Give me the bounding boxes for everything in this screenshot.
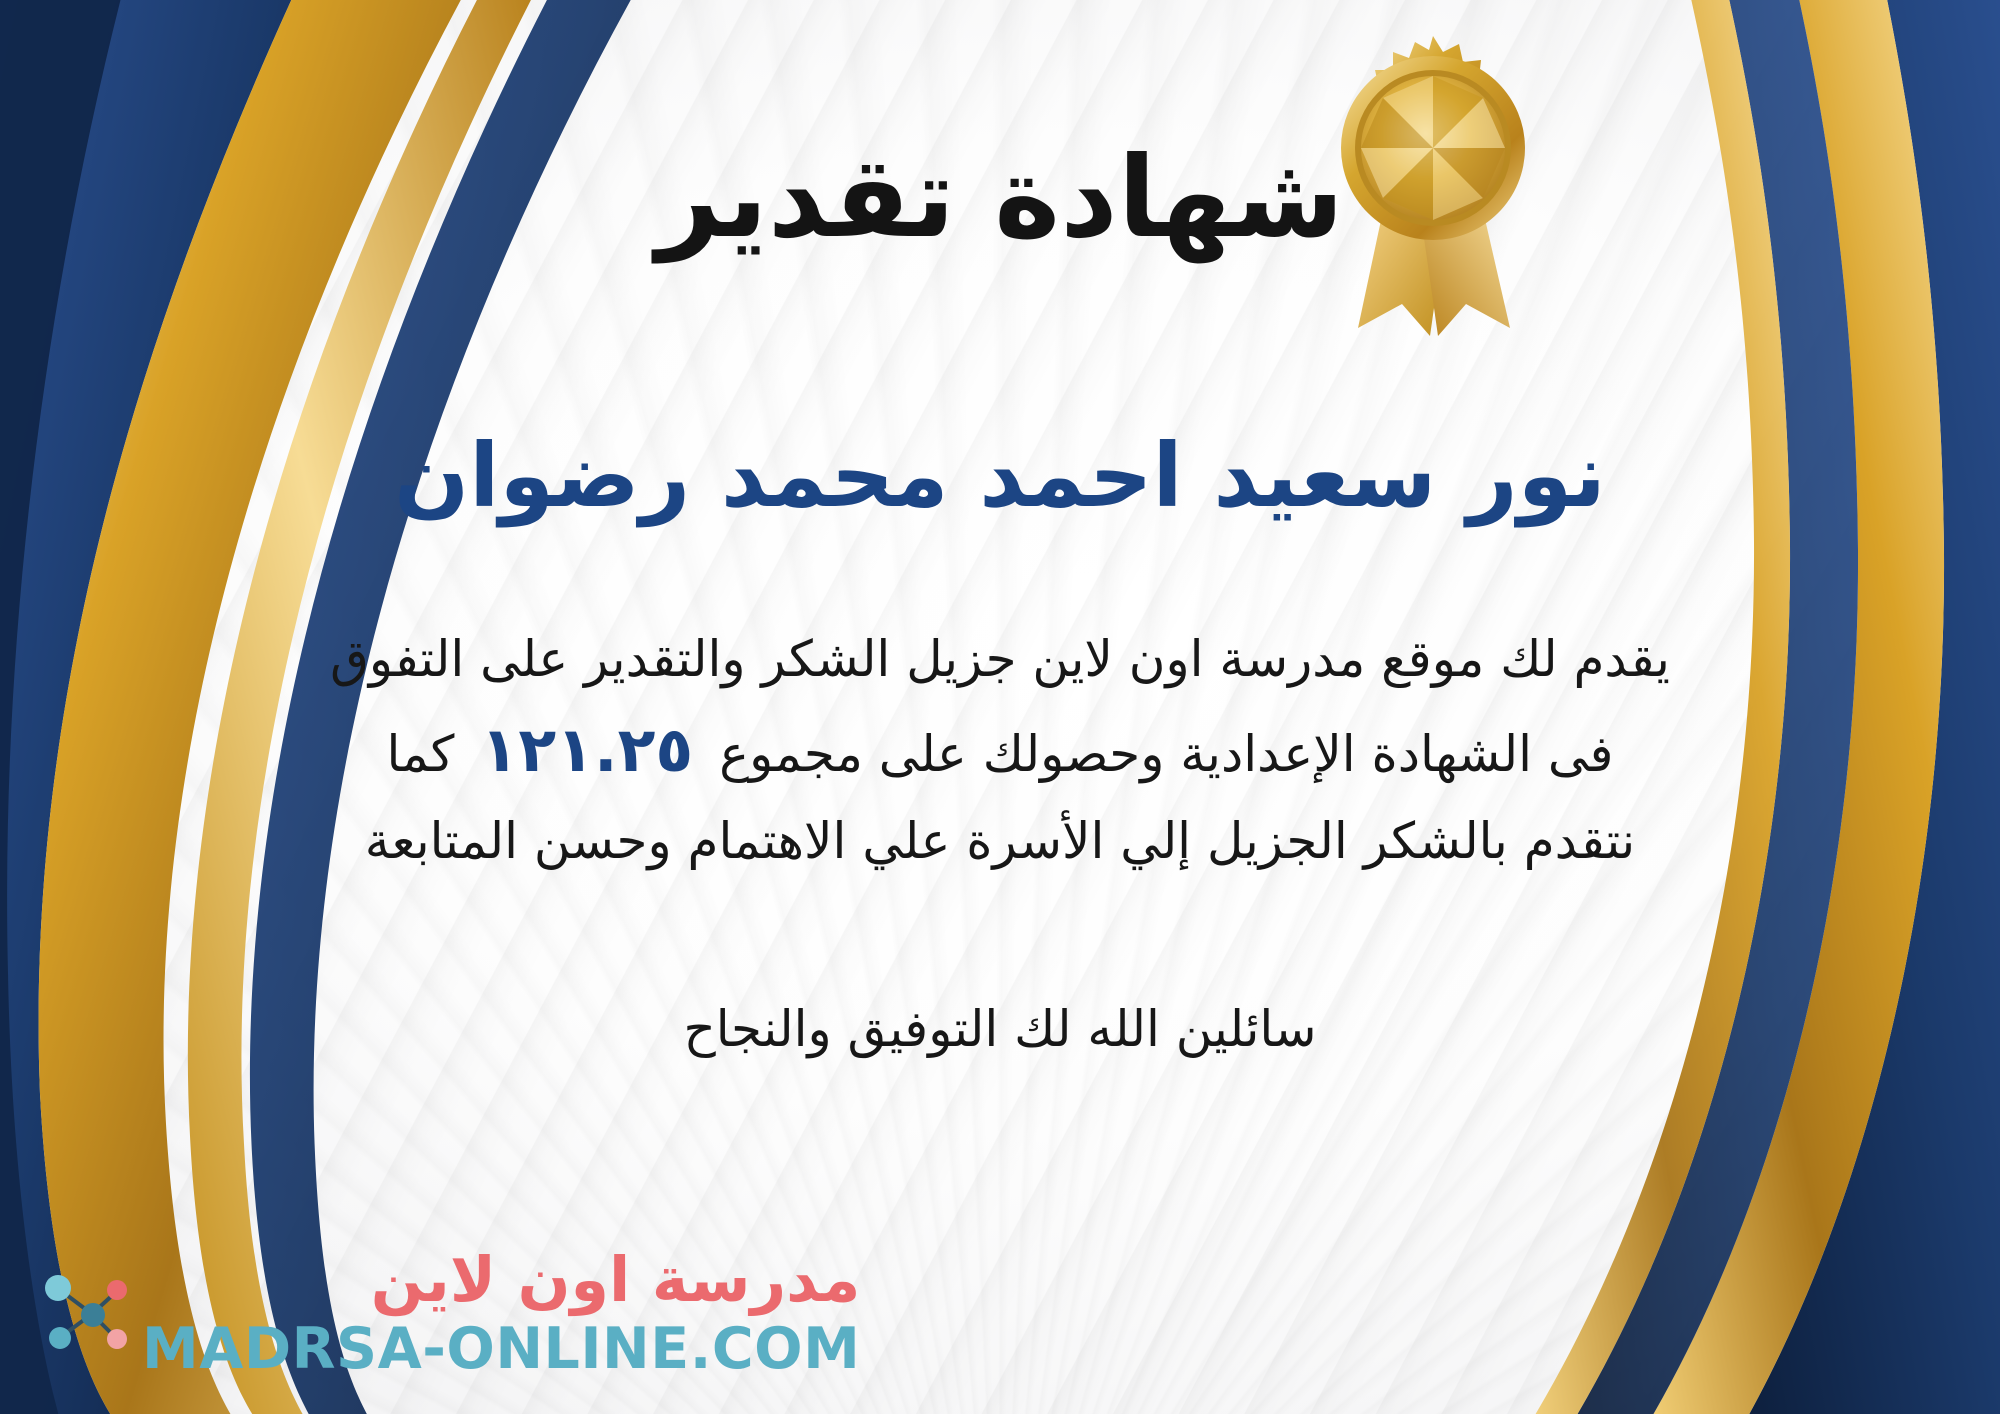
- certificate-body: يقدم لك موقع مدرسة اون لاين جزيل الشكر و…: [190, 619, 1810, 881]
- body-line-1: يقدم لك موقع مدرسة اون لاين جزيل الشكر و…: [190, 619, 1810, 700]
- brand-logo[interactable]: مدرسة اون لاين MADRSA-ONLINE.COM: [36, 1249, 860, 1378]
- body-line-3: نتقدم بالشكر الجزيل إلي الأسرة علي الاهت…: [190, 801, 1810, 882]
- network-nodes-icon: [36, 1268, 128, 1360]
- brand-domain: MADRSA-ONLINE.COM: [142, 1321, 860, 1378]
- recipient-name: نور سعيد احمد محمد رضوان: [394, 428, 1606, 525]
- brand-text: مدرسة اون لاين MADRSA-ONLINE.COM: [142, 1249, 860, 1378]
- body-line-2: فى الشهادة الإعدادية وحصولك على مجموع١٢١…: [190, 700, 1810, 800]
- certificate-canvas: شهادة تقدير نور سعيد احمد محمد رضوان يقد…: [0, 0, 2000, 1414]
- page-title: شهادة تقدير: [656, 140, 1344, 258]
- body-line-2-text: فى الشهادة الإعدادية وحصولك على مجموع: [719, 725, 1613, 783]
- brand-name-arabic: مدرسة اون لاين: [371, 1249, 861, 1311]
- closing-line: سائلين الله لك التوفيق والنجاح: [683, 1000, 1316, 1058]
- certificate-content: شهادة تقدير نور سعيد احمد محمد رضوان يقد…: [0, 0, 2000, 1414]
- score-value: ١٢١.٢٥: [454, 713, 719, 786]
- body-line-2-tail: كما: [387, 725, 455, 783]
